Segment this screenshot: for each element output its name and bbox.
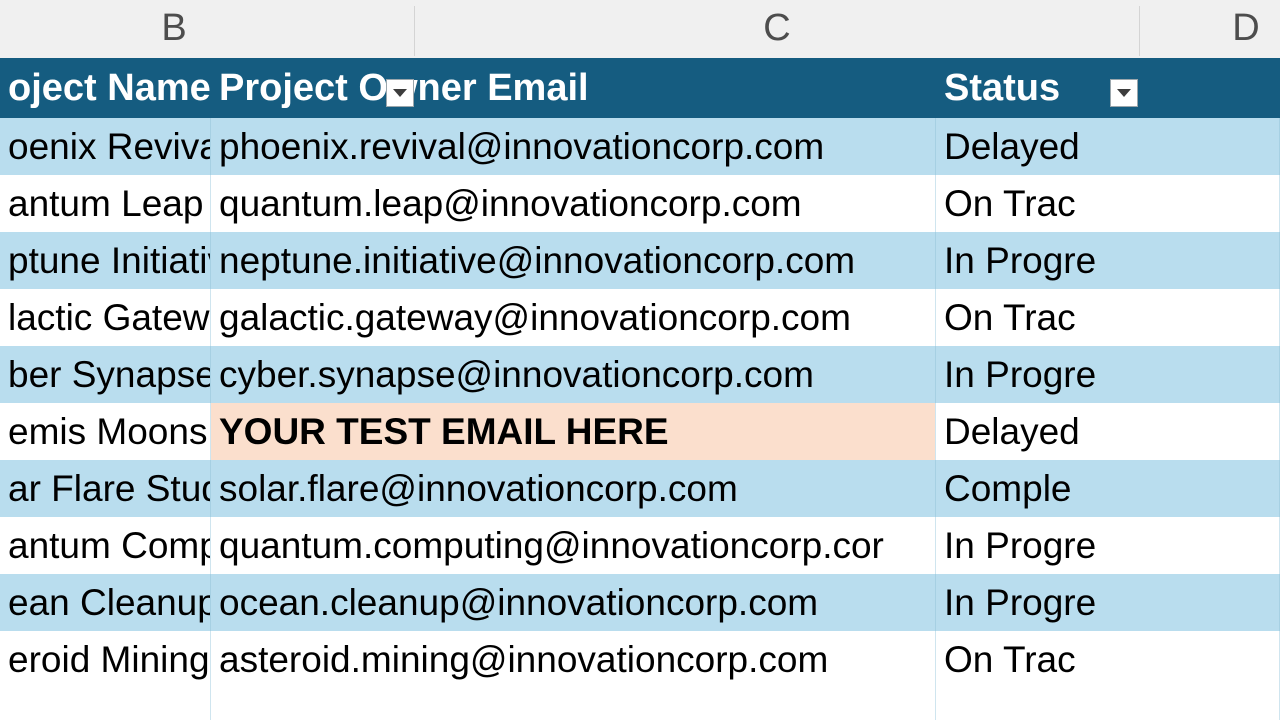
table-row[interactable]: ptune Initiativeneptune.initiative@innov…: [0, 232, 1280, 289]
table-row[interactable]: ean Cleanupocean.cleanup@innovationcorp.…: [0, 574, 1280, 631]
column-divider-cd[interactable]: [1139, 6, 1140, 56]
table-row[interactable]: antum Computing R&Dquantum.computing@inn…: [0, 517, 1280, 574]
table-row[interactable]: [0, 688, 1280, 720]
chevron-down-icon: [1117, 89, 1131, 97]
cell-status[interactable]: On Trac: [936, 631, 1280, 688]
grid-area: oject Name Project Owner Email Status oe…: [0, 58, 1280, 720]
cell-project-owner-email[interactable]: asteroid.mining@innovationcorp.com: [211, 631, 936, 688]
column-header-c[interactable]: C: [677, 0, 877, 56]
table-row[interactable]: oenix Revivalphoenix.revival@innovationc…: [0, 118, 1280, 175]
cell-project-name[interactable]: antum Leap: [0, 175, 211, 232]
table-row[interactable]: eroid Miningasteroid.mining@innovationco…: [0, 631, 1280, 688]
column-divider-bc[interactable]: [414, 6, 415, 56]
table-row[interactable]: emis MoonshotYOUR TEST EMAIL HEREDelayed: [0, 403, 1280, 460]
cell-project-owner-email[interactable]: quantum.leap@innovationcorp.com: [211, 175, 936, 232]
cell-status[interactable]: On Trac: [936, 175, 1280, 232]
cell-status[interactable]: In Progre: [936, 517, 1280, 574]
cell-project-owner-email-highlighted[interactable]: YOUR TEST EMAIL HERE: [211, 403, 936, 460]
header-cell-project-owner-email[interactable]: Project Owner Email: [211, 58, 936, 118]
column-header-b[interactable]: B: [74, 0, 274, 56]
cell-project-name[interactable]: ptune Initiative: [0, 232, 211, 289]
cell-status[interactable]: Delayed: [936, 403, 1280, 460]
cell-project-owner-email[interactable]: quantum.computing@innovationcorp.cor: [211, 517, 936, 574]
cell-project-owner-email[interactable]: ocean.cleanup@innovationcorp.com: [211, 574, 936, 631]
column-header-d[interactable]: D: [1146, 0, 1280, 56]
table-header-row: oject Name Project Owner Email Status: [0, 58, 1280, 118]
header-cell-project-name[interactable]: oject Name: [0, 58, 211, 118]
cell-project-name[interactable]: emis Moonshot: [0, 403, 211, 460]
table-row[interactable]: ber Synapsecyber.synapse@innovationcorp.…: [0, 346, 1280, 403]
cell-project-name[interactable]: antum Computing R&D: [0, 517, 211, 574]
cell-project-name[interactable]: lactic Gateway: [0, 289, 211, 346]
table-row[interactable]: ar Flare Studysolar.flare@innovationcorp…: [0, 460, 1280, 517]
cell-project-name[interactable]: eroid Mining: [0, 631, 211, 688]
cell-project-owner-email[interactable]: galactic.gateway@innovationcorp.com: [211, 289, 936, 346]
cell-project-name[interactable]: ar Flare Study: [0, 460, 211, 517]
chevron-down-icon: [393, 89, 407, 97]
header-cell-status[interactable]: Status: [936, 58, 1280, 118]
cell-project-name[interactable]: ber Synapse: [0, 346, 211, 403]
table-row[interactable]: lactic Gatewaygalactic.gateway@innovatio…: [0, 289, 1280, 346]
cell-project-owner-email[interactable]: solar.flare@innovationcorp.com: [211, 460, 936, 517]
cell-project-name[interactable]: ean Cleanup: [0, 574, 211, 631]
cell-project-owner-email[interactable]: cyber.synapse@innovationcorp.com: [211, 346, 936, 403]
cell-status[interactable]: Delayed: [936, 118, 1280, 175]
cell-status[interactable]: In Progre: [936, 574, 1280, 631]
cell-project-owner-email[interactable]: neptune.initiative@innovationcorp.com: [211, 232, 936, 289]
cell-project-owner-email[interactable]: [211, 688, 936, 720]
cell-status[interactable]: In Progre: [936, 346, 1280, 403]
cell-status[interactable]: Comple: [936, 460, 1280, 517]
cell-project-name[interactable]: oenix Revival: [0, 118, 211, 175]
cell-status[interactable]: [936, 688, 1280, 720]
cell-status[interactable]: On Trac: [936, 289, 1280, 346]
table-row[interactable]: antum Leapquantum.leap@innovationcorp.co…: [0, 175, 1280, 232]
cell-project-owner-email[interactable]: phoenix.revival@innovationcorp.com: [211, 118, 936, 175]
filter-dropdown-project-name[interactable]: [386, 79, 414, 107]
filter-dropdown-project-owner-email[interactable]: [1110, 79, 1138, 107]
spreadsheet-viewport: B C D oject Name Project Owner Email Sta…: [0, 0, 1280, 720]
column-header-strip: B C D: [0, 0, 1280, 60]
cell-status[interactable]: In Progre: [936, 232, 1280, 289]
cell-project-name[interactable]: [0, 688, 211, 720]
